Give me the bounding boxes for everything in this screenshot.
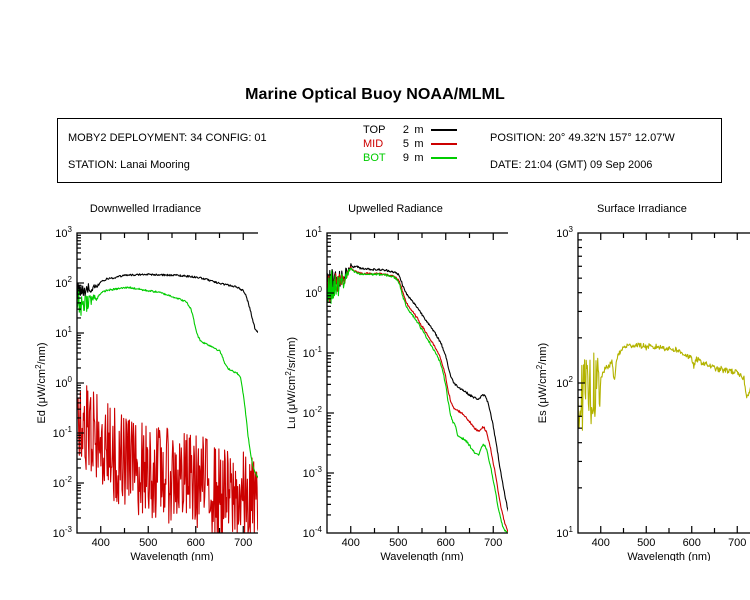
- figure-root: Marine Optical Buoy NOAA/MLML MOBY2 DEPL…: [0, 0, 750, 600]
- panel-upwelled-radiance: Upwelled Radiance40050060070010-410-310-…: [283, 203, 508, 561]
- panel-surface-irradiance: Surface Irradiance400500600700101102103W…: [534, 203, 750, 561]
- legend-line-swatch: [431, 157, 457, 159]
- legend-row-mid: MID5m: [363, 137, 457, 151]
- y-tick-label: 10-1: [303, 345, 323, 360]
- legend-line-swatch: [431, 143, 457, 145]
- x-tick-label: 600: [437, 537, 455, 549]
- legend-depth-unit: m: [409, 152, 429, 164]
- legend-label: TOP: [363, 124, 393, 136]
- series-mid-5-m: [327, 267, 508, 533]
- legend-line-swatch: [431, 129, 457, 131]
- y-tick-label: 10-1: [53, 425, 73, 440]
- legend-depth-value: 5: [393, 138, 409, 150]
- y-axis-label: Ed (μW/cm2/nm): [34, 342, 48, 423]
- y-axis-label: Lu (μW/cm2/sr/nm): [284, 337, 298, 429]
- axis-frame: [578, 233, 750, 533]
- station-info: STATION: Lanai Mooring: [68, 152, 267, 179]
- header-left-column: MOBY2 DEPLOYMENT: 34 CONFIG: 01 STATION:…: [68, 125, 267, 179]
- legend-row-bot: BOT9m: [363, 151, 457, 165]
- x-axis-label: Wavelength (nm): [130, 551, 213, 561]
- series-top-2-m: [327, 264, 508, 529]
- panel-title-upwelled-radiance: Upwelled Radiance: [283, 203, 508, 215]
- x-tick-label: 700: [484, 537, 502, 549]
- y-tick-label: 102: [55, 275, 72, 290]
- x-tick-label: 700: [234, 537, 252, 549]
- date-info: DATE: 21:04 (GMT) 09 Sep 2006: [490, 152, 675, 179]
- y-tick-label: 103: [556, 225, 573, 240]
- x-tick-label: 500: [637, 537, 655, 549]
- position-info: POSITION: 20° 49.32'N 157° 12.07'W: [490, 125, 675, 152]
- y-tick-label: 10-2: [53, 475, 73, 490]
- metadata-header-box: MOBY2 DEPLOYMENT: 34 CONFIG: 01 STATION:…: [57, 118, 722, 183]
- y-tick-label: 10-3: [303, 465, 323, 480]
- legend-depth-value: 2: [393, 124, 409, 136]
- y-tick-label: 101: [55, 325, 72, 340]
- y-tick-label: 101: [305, 225, 322, 240]
- axis-frame: [77, 233, 258, 533]
- x-axis-label: Wavelength (nm): [380, 551, 463, 561]
- y-tick-label: 101: [556, 525, 573, 540]
- legend-depth-unit: m: [409, 138, 429, 150]
- x-tick-label: 400: [342, 537, 360, 549]
- header-right-column: POSITION: 20° 49.32'N 157° 12.07'W DATE:…: [490, 125, 675, 179]
- legend-row-top: TOP2m: [363, 123, 457, 137]
- x-tick-label: 600: [187, 537, 205, 549]
- series-top-2-m: [77, 274, 258, 339]
- panel-title-downwelled-irradiance: Downwelled Irradiance: [33, 203, 258, 215]
- y-tick-label: 10-3: [53, 525, 73, 540]
- y-axis-label: Es (μW/cm2/nm): [535, 343, 549, 423]
- x-tick-label: 500: [389, 537, 407, 549]
- y-tick-label: 100: [55, 375, 72, 390]
- x-tick-label: 700: [728, 537, 746, 549]
- depth-legend: TOP2mMID5mBOT9m: [363, 123, 457, 165]
- series-es: [578, 343, 750, 430]
- y-tick-label: 10-2: [303, 405, 323, 420]
- x-tick-label: 400: [592, 537, 610, 549]
- legend-label: MID: [363, 138, 393, 150]
- y-tick-label: 103: [55, 225, 72, 240]
- y-tick-label: 100: [305, 285, 322, 300]
- legend-depth-unit: m: [409, 124, 429, 136]
- legend-depth-value: 9: [393, 152, 409, 164]
- page-title: Marine Optical Buoy NOAA/MLML: [0, 86, 750, 104]
- panel-title-surface-irradiance: Surface Irradiance: [534, 203, 750, 215]
- x-tick-label: 400: [92, 537, 110, 549]
- deployment-info: MOBY2 DEPLOYMENT: 34 CONFIG: 01: [68, 125, 267, 152]
- x-axis-label: Wavelength (nm): [627, 551, 710, 561]
- y-tick-label: 10-4: [303, 525, 323, 540]
- y-tick-label: 102: [556, 375, 573, 390]
- panel-downwelled-irradiance: Downwelled Irradiance40050060070010-310-…: [33, 203, 258, 561]
- x-tick-label: 500: [139, 537, 157, 549]
- x-tick-label: 600: [683, 537, 701, 549]
- axis-frame: [327, 233, 508, 533]
- legend-label: BOT: [363, 152, 393, 164]
- series-mid-5-m: [77, 386, 258, 533]
